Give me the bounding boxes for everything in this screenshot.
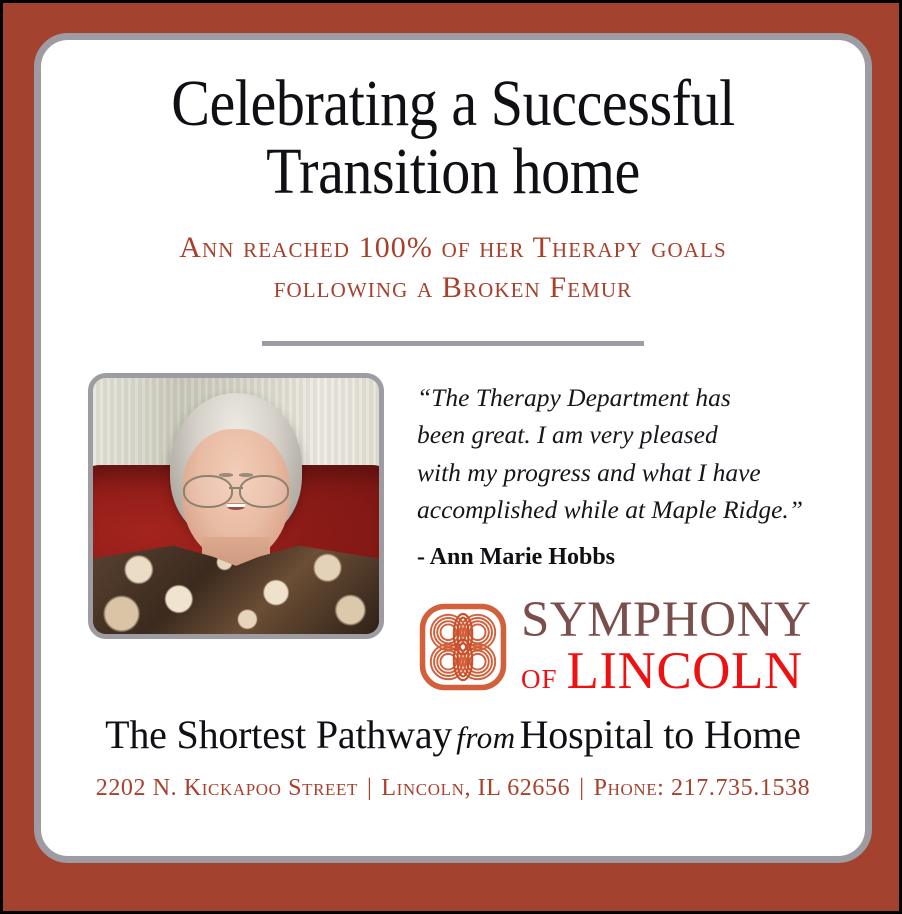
photo-smile xyxy=(227,504,244,511)
advertisement-card: Celebrating a Successful Transition home… xyxy=(34,33,872,863)
tagline-word-from: from xyxy=(452,720,519,755)
tagline-part-1: The Shortest Pathway xyxy=(105,712,452,757)
testimonial-quote: “The Therapy Department has been great. … xyxy=(417,379,837,528)
symphony-quatrefoil-mark-icon xyxy=(417,601,509,693)
address-separator-2: | xyxy=(570,775,593,801)
subheadline-line-2: following a Broken Femur xyxy=(81,268,825,308)
contact-address-line: 2202 N. Kickapoo Street|Lincoln, IL 6265… xyxy=(41,775,865,802)
photo-glasses-bridge xyxy=(229,487,244,489)
quote-line-3: with my progress and what I have xyxy=(417,454,837,491)
subheadline: Ann reached 100% of her Therapy goals fo… xyxy=(41,228,865,307)
quote-attribution: - Ann Marie Hobbs xyxy=(417,544,837,571)
subheadline-line-1: Ann reached 100% of her Therapy goals xyxy=(81,228,825,268)
symphony-of-lincoln-logo: SYMPHONY OFLINCOLN xyxy=(417,597,837,697)
divider-container xyxy=(41,333,865,351)
testimonial-section: “The Therapy Department has been great. … xyxy=(41,351,865,697)
horizontal-rule xyxy=(262,341,644,346)
advertisement-frame: Celebrating a Successful Transition home… xyxy=(0,0,902,914)
logo-lincoln-row: OFLINCOLN xyxy=(521,647,837,697)
logo-wordmark: SYMPHONY OFLINCOLN xyxy=(509,597,837,697)
tagline: The Shortest PathwayfromHospital to Home xyxy=(41,711,865,758)
headline-line-2: Transition home xyxy=(126,138,781,206)
address-phone: Phone: 217.735.1538 xyxy=(594,775,811,801)
photo-column xyxy=(88,373,384,639)
logo-word-lincoln: LINCOLN xyxy=(567,642,803,700)
photo-lens-right xyxy=(239,475,288,507)
tagline-part-2: Hospital to Home xyxy=(520,712,801,757)
quote-line-1: “The Therapy Department has xyxy=(417,379,837,416)
quote-column: “The Therapy Department has been great. … xyxy=(384,373,837,697)
photo-eyeglasses xyxy=(183,475,289,503)
page-title: Celebrating a Successful Transition home xyxy=(90,40,815,206)
quote-line-4: accomplished while at Maple Ridge.” xyxy=(417,491,837,528)
address-street: 2202 N. Kickapoo Street xyxy=(96,775,358,801)
quote-line-2: been great. I am very pleased xyxy=(417,416,837,453)
address-city-state-zip: Lincoln, IL 62656 xyxy=(381,775,570,801)
logo-word-symphony: SYMPHONY xyxy=(521,597,837,645)
address-separator-1: | xyxy=(358,775,381,801)
logo-word-of: OF xyxy=(521,664,558,694)
resident-photo xyxy=(88,373,384,639)
photo-lens-left xyxy=(183,475,232,507)
headline-line-1: Celebrating a Successful xyxy=(126,70,781,138)
